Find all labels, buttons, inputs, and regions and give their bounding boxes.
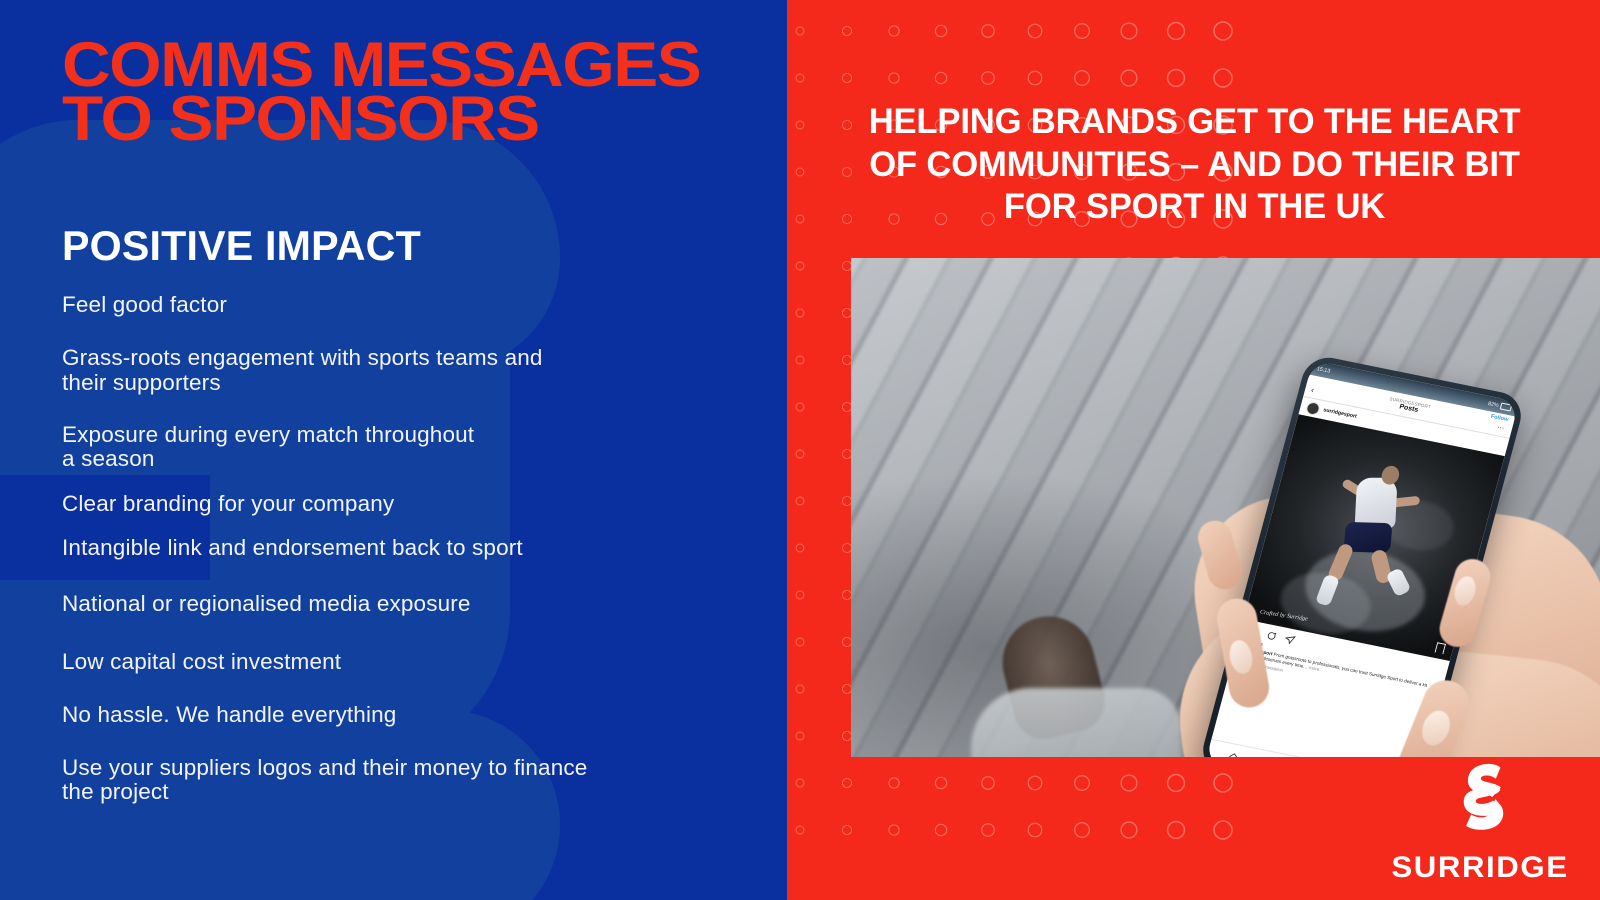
pattern-circle (796, 779, 804, 787)
pattern-circle (796, 450, 804, 458)
pattern-circle (796, 403, 804, 411)
pattern-circle (982, 777, 994, 789)
list-item: Clear branding for your company (62, 492, 732, 516)
pattern-circle (796, 732, 804, 740)
pattern-circle (796, 121, 804, 129)
pattern-circle (935, 777, 946, 788)
pattern-circle (796, 262, 804, 270)
instagram-tab-bar (1205, 739, 1418, 757)
pattern-circle (889, 778, 899, 788)
pattern-circle (1168, 70, 1185, 87)
list-item: Use your suppliers logos and their money… (62, 756, 732, 805)
pattern-circle (796, 356, 804, 364)
bookmark-icon[interactable] (1434, 642, 1446, 654)
surridge-logo: SURRIDGE (1385, 762, 1575, 885)
pattern-circle (1121, 23, 1137, 39)
pattern-circle (1214, 821, 1232, 839)
share-icon[interactable] (1284, 634, 1296, 646)
pattern-circle (1121, 775, 1137, 791)
list-item: National or regionalised media exposure (62, 592, 732, 616)
back-chevron-icon[interactable]: ‹ (1310, 385, 1315, 394)
pattern-circle (1028, 24, 1042, 38)
list-item: Grass-roots engagement with sports teams… (62, 346, 732, 395)
pattern-circle (796, 74, 804, 82)
pattern-circle (796, 826, 804, 834)
trouser-leg (971, 688, 1181, 757)
pattern-circle (1214, 22, 1232, 40)
pattern-circle (1121, 822, 1137, 838)
list-item: Exposure during every match throughout a… (62, 423, 732, 472)
slide: COMMS MESSAGES TO SPONSORS POSITIVE IMPA… (0, 0, 1600, 900)
pattern-circle (1168, 23, 1185, 40)
pattern-circle (796, 27, 804, 35)
avatar (1305, 400, 1321, 415)
pattern-circle (796, 215, 804, 223)
more-options-icon[interactable]: ⋯ (1496, 423, 1506, 432)
caption-more-link[interactable]: more (1308, 665, 1320, 672)
pattern-circle (1028, 776, 1042, 790)
pattern-circle (1028, 823, 1042, 837)
list-item: Low capital cost investment (62, 650, 732, 674)
instagram-phone-photo: 15:13 82% SURRIDGESPORT Posts Follow ‹ ⋯ (851, 258, 1600, 757)
pattern-circle (842, 825, 851, 834)
pattern-circle (796, 309, 804, 317)
pattern-circle (1075, 776, 1090, 791)
headline: HELPING BRANDS GET TO THE HEART OF COMMU… (811, 101, 1578, 229)
status-battery-percent: 82% (1487, 400, 1499, 408)
benefits-list: Feel good factorGrass-roots engagement w… (62, 293, 732, 805)
pattern-circle (796, 638, 804, 646)
page-title: COMMS MESSAGES TO SPONSORS (62, 38, 787, 146)
pattern-circle (1028, 71, 1042, 85)
list-item: Intangible link and endorsement back to … (62, 536, 732, 560)
logo-wordmark: SURRIDGE (1381, 851, 1579, 885)
pattern-circle (1168, 822, 1185, 839)
status-time: 15:13 (1316, 366, 1331, 374)
pattern-circle (935, 72, 946, 83)
pattern-circle (1214, 774, 1232, 792)
pattern-circle (1214, 69, 1232, 87)
pattern-circle (796, 544, 804, 552)
pattern-circle (889, 825, 899, 835)
pattern-circle (1075, 71, 1090, 86)
follow-button[interactable]: Follow (1490, 414, 1509, 423)
pattern-circle (1075, 24, 1090, 39)
left-blue-panel: COMMS MESSAGES TO SPONSORS POSITIVE IMPA… (0, 0, 787, 900)
list-item: Feel good factor (62, 293, 732, 317)
pattern-circle (889, 73, 899, 83)
pattern-circle (982, 824, 994, 836)
pattern-circle (796, 591, 804, 599)
pattern-circle (796, 168, 804, 176)
pattern-circle (842, 26, 851, 35)
list-item: No hassle. We handle everything (62, 703, 732, 727)
right-red-panel: HELPING BRANDS GET TO THE HEART OF COMMU… (787, 0, 1600, 900)
surridge-double-s-mark-icon (1451, 762, 1509, 840)
pattern-circle (982, 72, 994, 84)
pattern-circle (935, 25, 946, 36)
home-icon[interactable] (1227, 751, 1239, 757)
pattern-circle (889, 26, 899, 36)
comment-icon[interactable] (1265, 630, 1277, 642)
pattern-circle (1168, 775, 1185, 792)
section-heading: POSITIVE IMPACT (62, 222, 421, 270)
pattern-circle (982, 25, 994, 37)
pattern-circle (1121, 70, 1137, 86)
pattern-circle (1075, 823, 1090, 838)
pattern-circle (796, 685, 804, 693)
post-username[interactable]: surridgesport (1323, 407, 1358, 420)
pattern-circle (842, 73, 851, 82)
pattern-circle (842, 778, 851, 787)
pattern-circle (796, 497, 804, 505)
battery-icon (1500, 403, 1513, 412)
pattern-circle (935, 824, 946, 835)
